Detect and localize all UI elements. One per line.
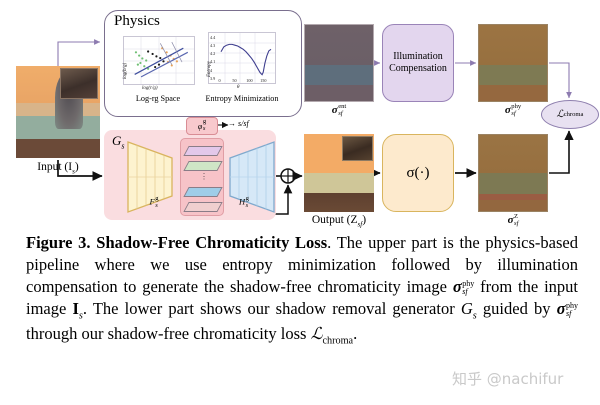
sigma-z-image xyxy=(478,134,548,212)
output-zoom-inset xyxy=(342,136,373,162)
output-image-thumbnail xyxy=(304,134,374,212)
phi-classifier-box[interactable]: φgs xyxy=(186,117,218,135)
feature-layer-3 xyxy=(183,187,222,197)
entropy-y-tick: 4.3 xyxy=(210,43,215,48)
log-rg-scatter-plot: log(b/g) log(r/g) xyxy=(123,36,195,85)
arrow-input-to-physics xyxy=(58,42,100,66)
feature-layer-2 xyxy=(183,161,222,171)
entropy-x-tick: 150 xyxy=(260,78,266,83)
feature-ellipsis: ⋮ xyxy=(200,172,208,181)
chroma-loss-node: ℒchroma xyxy=(541,100,599,129)
entropy-y-tick: 4 xyxy=(210,68,212,73)
sigma-phy-label: σphysf xyxy=(478,104,548,117)
entropy-minimization-plot: Entropy θ 3.944.14.24.34.4 050100150 xyxy=(208,32,276,84)
input-image-label: Input (Is) xyxy=(16,161,100,175)
figure-caption: Figure 3. Shadow-Free Chromaticity Loss.… xyxy=(26,232,578,348)
illumination-line-2: Compensation xyxy=(389,63,447,76)
encoder-label: Fgs xyxy=(138,196,170,209)
caption-body-6: . xyxy=(353,324,357,343)
caption-title: Shadow-Free Chromaticity Loss xyxy=(96,233,327,252)
caption-sigma-phy-2: σ xyxy=(557,299,566,318)
caption-body-5: through our shadow-free chromaticity los… xyxy=(26,324,311,343)
illumination-line-1: Illumination xyxy=(389,51,447,64)
feature-layer-1 xyxy=(183,146,222,156)
caption-body-3: . The lower part shows our shadow remova… xyxy=(83,299,461,318)
arrow-sigmaz-to-loss xyxy=(549,131,569,173)
sigma-ent-label: σentsf xyxy=(304,104,374,117)
entropy-y-tick: 3.9 xyxy=(210,76,215,81)
log-rg-plot-caption: Log-rg Space xyxy=(112,94,204,103)
illumination-compensation-box[interactable]: Illumination Compensation xyxy=(382,24,454,102)
input-zoom-inset xyxy=(60,68,99,99)
entropy-plot-svg xyxy=(209,33,275,83)
sigma-phy-image xyxy=(478,24,548,102)
feature-stack: ⋮ xyxy=(180,138,224,216)
log-rg-xlabel: log(r/g) xyxy=(142,86,158,91)
entropy-y-tick: 4.4 xyxy=(210,35,215,40)
entropy-x-tick: 50 xyxy=(232,78,236,83)
physics-panel-title: Physics xyxy=(114,13,160,30)
output-image-label: Output (Zsf) xyxy=(289,214,389,228)
entropy-y-tick: 4.2 xyxy=(210,51,215,56)
generator-label: Gs xyxy=(112,133,125,151)
watermark: 知乎 @nachifur xyxy=(452,368,563,389)
figure-container: Input (Is) Physics log(b/g) log(r/g) Log… xyxy=(0,0,600,405)
entropy-x-tick: 0 xyxy=(219,78,221,83)
entropy-y-tick: 4.1 xyxy=(210,59,215,64)
feature-layer-4 xyxy=(183,202,222,212)
entropy-plot-caption: Entropy Minimization xyxy=(196,94,288,103)
sigma-operator-label: σ(·) xyxy=(406,165,429,182)
sigma-z-label: σZsf xyxy=(478,214,548,227)
log-rg-plot-svg xyxy=(124,37,194,84)
phi-output-label: → s/sf xyxy=(228,119,249,128)
log-rg-ylabel: log(b/g) xyxy=(123,63,128,79)
caption-body-4: guided by xyxy=(477,299,557,318)
caption-figure-number: Figure 3. xyxy=(26,233,91,252)
input-image-thumbnail xyxy=(16,66,100,158)
arrow-phy-to-loss xyxy=(549,63,569,98)
caption-generator-symbol: G xyxy=(461,299,473,318)
sigma-ent-image xyxy=(304,24,374,102)
entropy-x-tick: 100 xyxy=(246,78,252,83)
chromaticity-operator-box[interactable]: σ(·) xyxy=(382,134,454,212)
entropy-xlabel: θ xyxy=(237,85,239,90)
decoder-label: Hgs xyxy=(228,196,260,209)
caption-loss-symbol: ℒ xyxy=(311,324,323,343)
caption-sigma-phy-1: σ xyxy=(453,277,462,296)
